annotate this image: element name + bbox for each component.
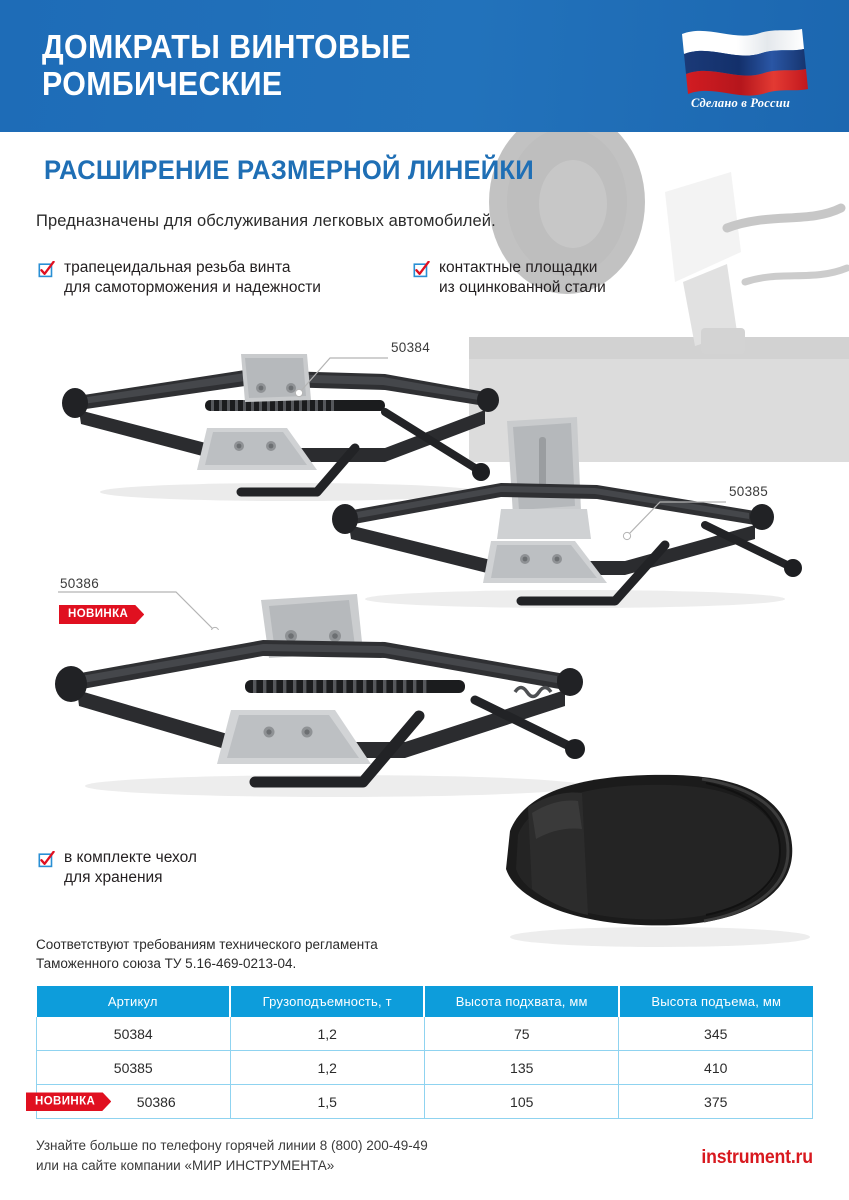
table-cell-capacity: 1,5 <box>230 1085 424 1119</box>
table-cell-lift-height: 375 <box>619 1085 813 1119</box>
checkbox-checked-icon <box>38 851 55 868</box>
new-product-badge: НОВИНКА <box>59 605 144 624</box>
table-cell-lift-height: 410 <box>619 1051 813 1085</box>
specifications-table: Артикул Грузоподъемность, т Высота подхв… <box>36 986 813 1119</box>
table-cell-pickup-height: 135 <box>424 1051 618 1085</box>
feature-label: контактные площадки из оцинкованной стал… <box>439 258 606 298</box>
product-datasheet-page: ДОМКРАТЫ ВИНТОВЫЕ РОМБИЧЕСКИЕ <box>0 0 849 1200</box>
table-row: НОВИНКА 50386 1,5 105 375 <box>37 1085 813 1119</box>
table-cell-pickup-height: 105 <box>424 1085 618 1119</box>
table-header-cell: Грузоподъемность, т <box>230 986 424 1017</box>
table-header-cell: Высота подхвата, мм <box>424 986 618 1017</box>
product-code-label: 50386 <box>60 576 99 591</box>
table-row: 50384 1,2 75 345 <box>37 1017 813 1051</box>
table-cell-capacity: 1,2 <box>230 1051 424 1085</box>
table-cell-capacity: 1,2 <box>230 1017 424 1051</box>
header-band: ДОМКРАТЫ ВИНТОВЫЕ РОМБИЧЕСКИЕ <box>0 0 849 132</box>
section-heading: РАСШИРЕНИЕ РАЗМЕРНОЙ ЛИНЕЙКИ <box>44 155 534 186</box>
footer-contact-text: Узнайте больше по телефону горячей линии… <box>36 1136 428 1176</box>
feature-item: в комплекте чехол для хранения <box>38 848 197 888</box>
table-row: 50385 1,2 135 410 <box>37 1051 813 1085</box>
table-header-cell: Артикул <box>37 986 231 1017</box>
certification-text: Соответствуют требованиям технического р… <box>36 935 378 973</box>
table-header-row: Артикул Грузоподъемность, т Высота подхв… <box>37 986 813 1017</box>
table-cell-article: 50384 <box>37 1017 231 1051</box>
table-header-cell: Высота подъема, мм <box>619 986 813 1017</box>
product-code-label: 50384 <box>391 340 430 355</box>
page-title: ДОМКРАТЫ ВИНТОВЫЕ РОМБИЧЕСКИЕ <box>42 28 594 102</box>
table-cell-lift-height: 345 <box>619 1017 813 1051</box>
russian-flag-icon <box>668 22 813 100</box>
made-in-russia-caption: Сделано в России <box>668 96 813 111</box>
checkbox-checked-icon <box>413 261 430 278</box>
made-in-russia-badge: Сделано в России <box>668 22 813 122</box>
checkbox-checked-icon <box>38 261 55 278</box>
company-website-logo[interactable]: instrument.ru <box>702 1147 813 1169</box>
storage-bag-photo <box>470 765 830 950</box>
table-cell-pickup-height: 75 <box>424 1017 618 1051</box>
table-cell-article: 50385 <box>37 1051 231 1085</box>
table-cell-article: НОВИНКА 50386 <box>37 1085 231 1119</box>
intro-text: Предназначены для обслуживания легковых … <box>36 212 496 231</box>
feature-label: трапецеидальная резьба винта для самотор… <box>64 258 321 298</box>
feature-label: в комплекте чехол для хранения <box>64 848 197 888</box>
new-product-badge: НОВИНКА <box>26 1092 111 1111</box>
product-code-label: 50385 <box>729 484 768 499</box>
feature-item: контактные площадки из оцинкованной стал… <box>413 258 606 298</box>
feature-item: трапецеидальная резьба винта для самотор… <box>38 258 321 298</box>
